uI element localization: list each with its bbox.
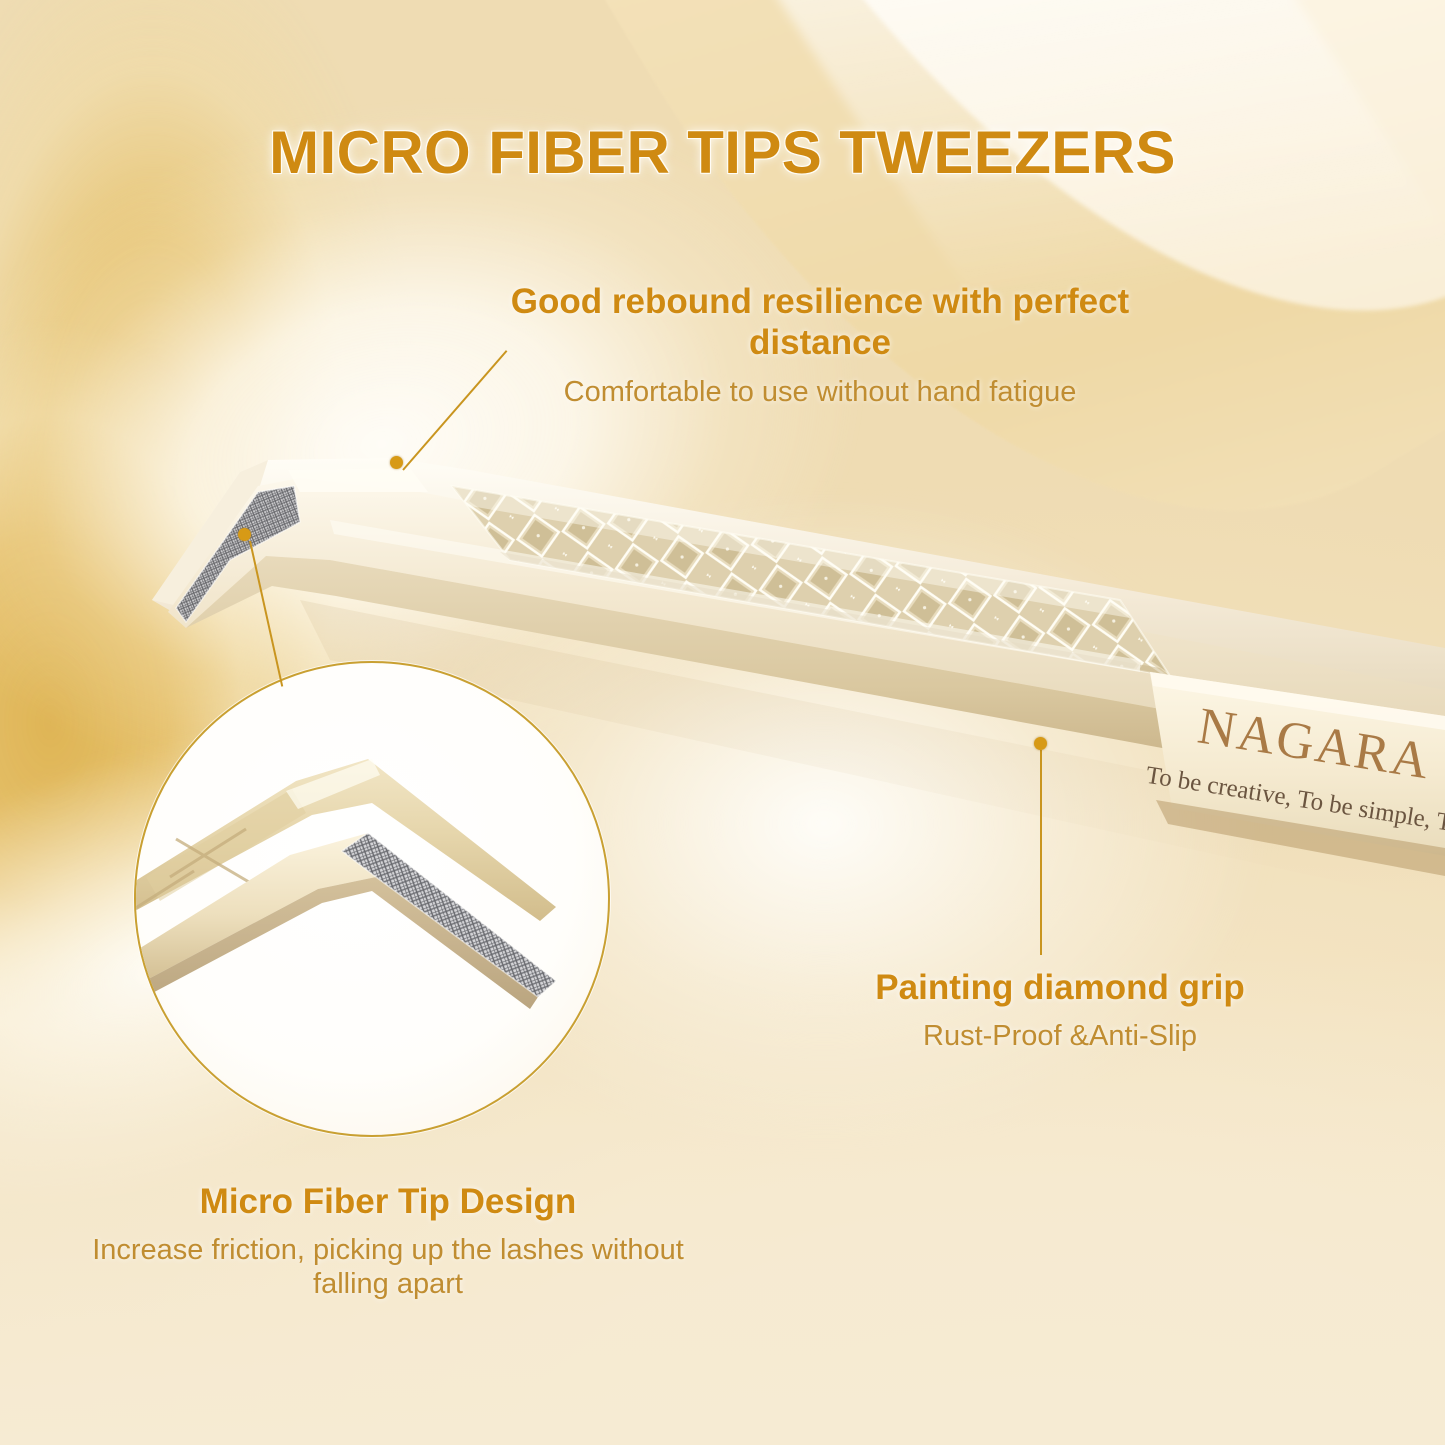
callout-rebound: Good rebound resilience with perfect dis… xyxy=(470,282,1170,410)
callout-rebound-subtext: Comfortable to use without hand fatigue xyxy=(470,375,1170,410)
magnified-micro-fiber-mesh xyxy=(342,833,556,997)
product-infographic: NAGARA To be creative, To be simple, To … xyxy=(0,0,1445,1445)
leader-dot-rebound xyxy=(390,456,403,469)
magnified-tip-circle xyxy=(134,661,610,1137)
leader-line-grip xyxy=(1040,750,1042,955)
callout-grip-subtext: Rust-Proof &Anti-Slip xyxy=(760,1019,1360,1054)
callout-grip: Painting diamond grip Rust-Proof &Anti-S… xyxy=(760,968,1360,1053)
callout-tip-heading: Micro Fiber Tip Design xyxy=(58,1182,718,1223)
tweezer-elbow-highlight xyxy=(288,468,428,492)
page-title: MICRO FIBER TIPS TWEEZERS xyxy=(0,118,1445,187)
callout-rebound-heading: Good rebound resilience with perfect dis… xyxy=(470,282,1170,363)
callout-grip-heading: Painting diamond grip xyxy=(760,968,1360,1009)
callout-tip: Micro Fiber Tip Design Increase friction… xyxy=(58,1182,718,1302)
callout-tip-subtext: Increase friction, picking up the lashes… xyxy=(58,1233,718,1303)
leader-dot-tip xyxy=(238,528,251,541)
leader-dot-grip xyxy=(1034,737,1047,750)
